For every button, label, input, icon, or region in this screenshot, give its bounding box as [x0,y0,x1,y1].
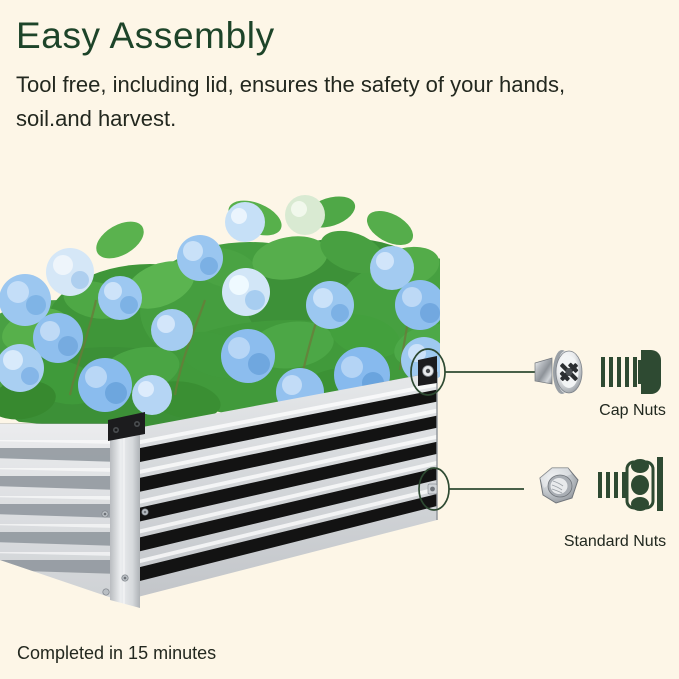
callout-label-cap-nuts: Cap Nuts [560,402,679,420]
cap-nuts-screw-photo [535,350,582,394]
product-feature-image: Easy Assembly Tool free, including lid, … [0,0,679,679]
standard-nut-schematic-icon [598,457,663,511]
cap-nut-on-product [418,356,437,386]
standard-nuts-hexnut-photo [540,468,578,503]
completion-time-caption: Completed in 15 minutes [17,641,216,665]
callout-label-standard-nuts: Standard Nuts [540,533,679,551]
cap-nut-schematic-icon [601,350,661,394]
standard-nut-on-product [428,484,437,494]
product-illustration [0,0,679,679]
